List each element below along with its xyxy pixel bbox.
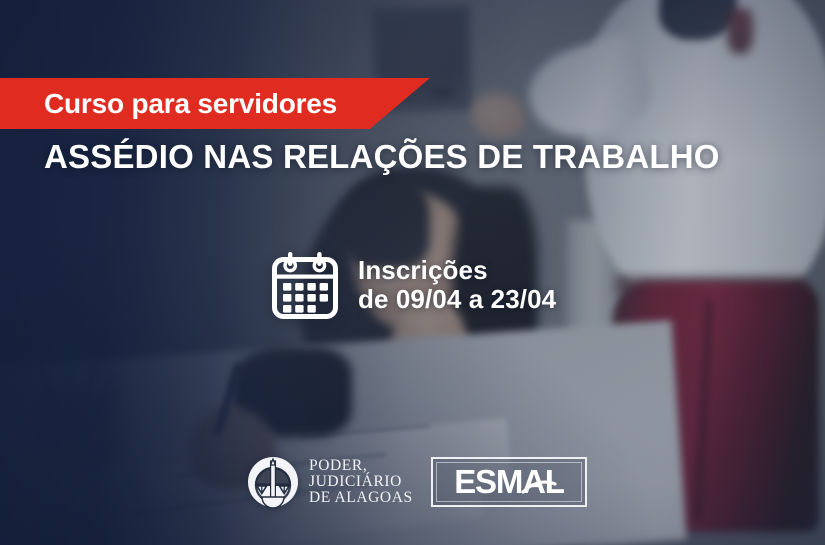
tjal-line-2: JUDICIÁRIO	[309, 474, 413, 490]
scales-of-justice-emblem	[246, 455, 300, 509]
course-promo-banner: Curso para servidores ASSÉDIO NAS RELAÇÕ…	[0, 0, 825, 545]
logo-row: PODER, JUDICIÁRIO DE ALAGOAS ESMAL	[246, 455, 587, 509]
esmal-wordmark: ESMAL	[439, 462, 579, 502]
enrollment-block: Inscrições de 09/04 a 23/04	[272, 250, 556, 320]
enrollment-heading: Inscrições	[358, 256, 556, 285]
ribbon-label: Curso para servidores	[0, 88, 337, 120]
tjal-logo: PODER, JUDICIÁRIO DE ALAGOAS	[246, 455, 413, 509]
tjal-line-1: PODER,	[309, 458, 413, 474]
tjal-wordmark: PODER, JUDICIÁRIO DE ALAGOAS	[309, 458, 413, 506]
enrollment-text: Inscrições de 09/04 a 23/04	[358, 256, 556, 314]
tjal-line-3: DE ALAGOAS	[309, 490, 413, 506]
calendar-icon	[272, 250, 338, 320]
enrollment-dates: de 09/04 a 23/04	[358, 285, 556, 314]
page-title: ASSÉDIO NAS RELAÇÕES DE TRABALHO	[44, 138, 720, 176]
esmal-logo: ESMAL	[431, 457, 587, 507]
course-type-ribbon: Curso para servidores	[0, 78, 430, 129]
